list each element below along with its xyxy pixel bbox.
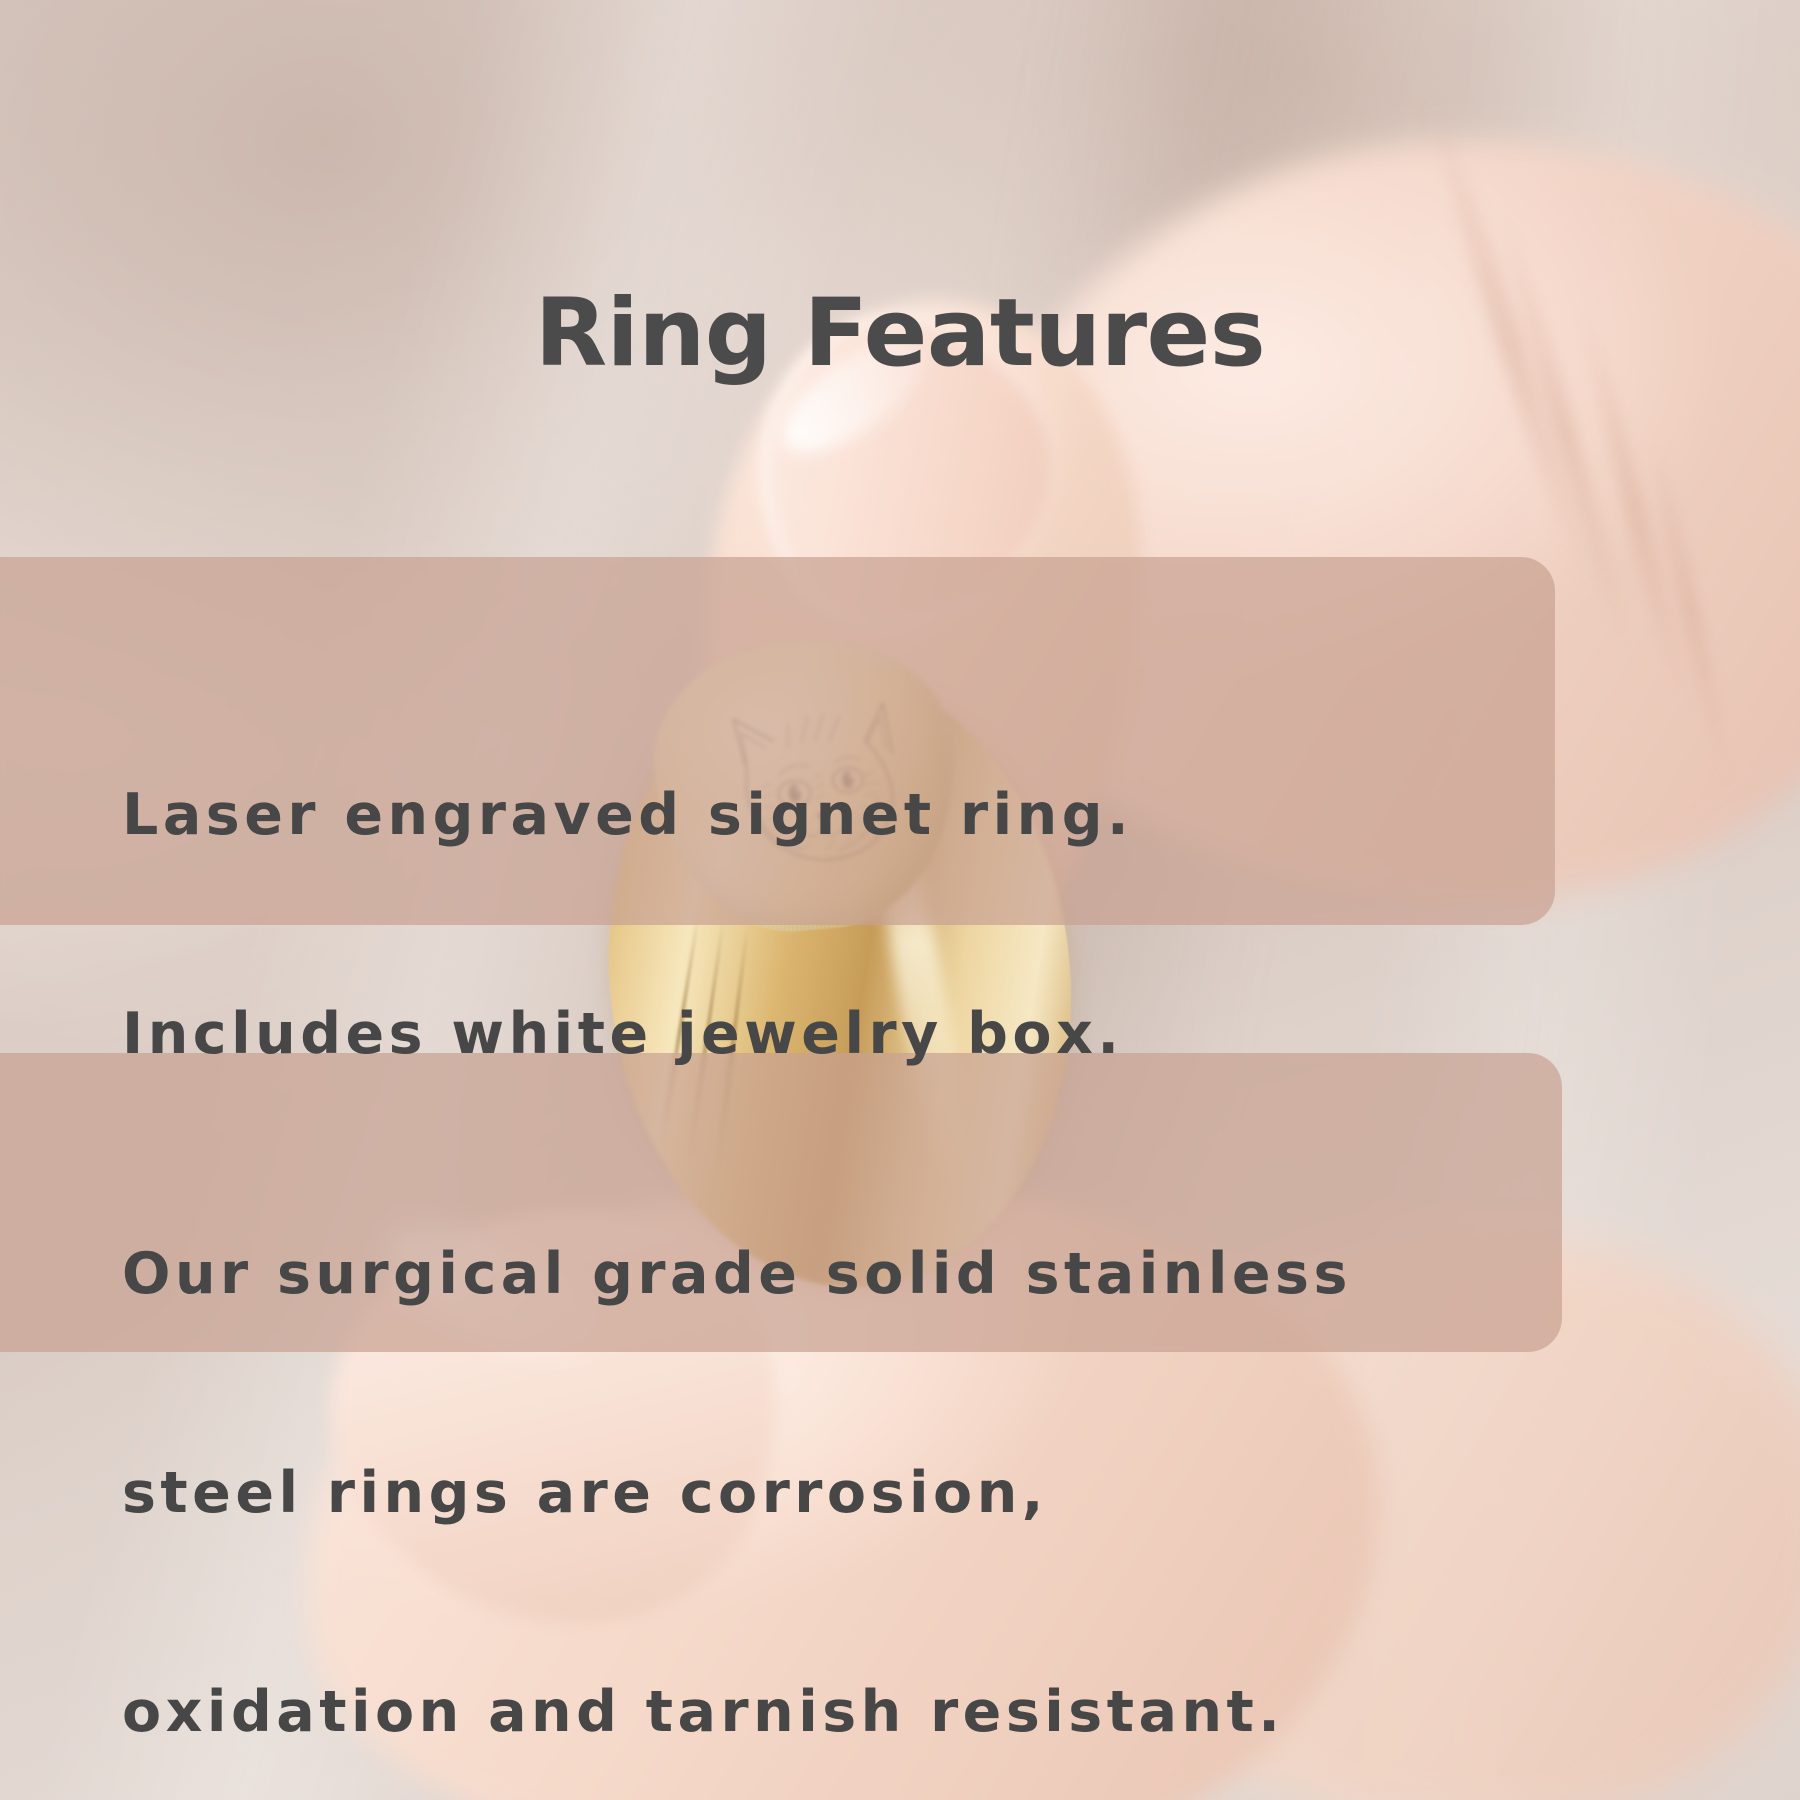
feature-one-line-2: Includes white jewelry box. xyxy=(122,998,1133,1071)
page-title: Ring Features xyxy=(0,285,1800,384)
feature-one-line-1: Laser engraved signet ring. xyxy=(122,779,1133,852)
feature-two-line-2: steel rings are corrosion, xyxy=(122,1457,1352,1530)
feature-text-two: Our surgical grade solid stainless steel… xyxy=(122,1092,1352,1800)
feature-two-line-3: oxidation and tarnish resistant. xyxy=(122,1676,1352,1749)
product-feature-card: Ring Features Laser engraved signet ring… xyxy=(0,0,1800,1800)
feature-two-line-1: Our surgical grade solid stainless xyxy=(122,1238,1352,1311)
